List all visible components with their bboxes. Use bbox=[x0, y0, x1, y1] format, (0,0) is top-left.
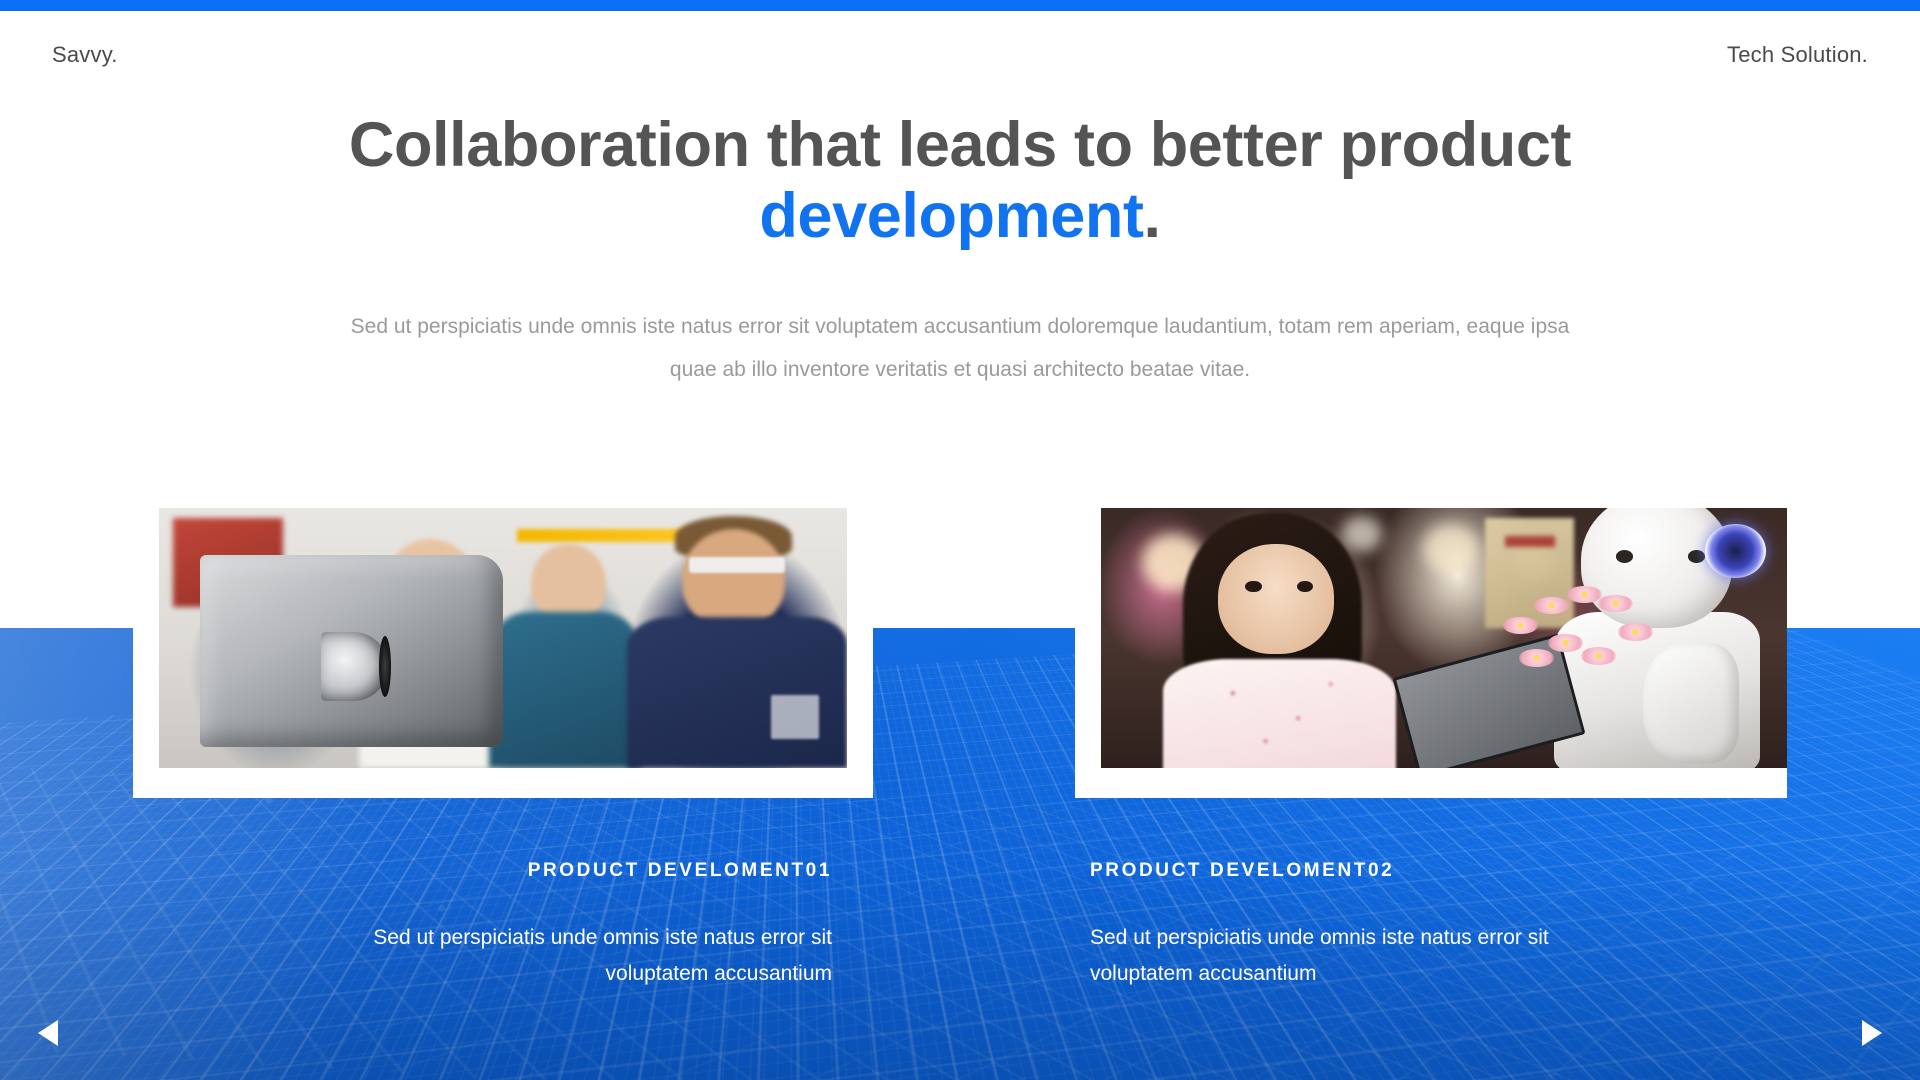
person-body-3 bbox=[627, 617, 847, 768]
person-face-2 bbox=[531, 544, 607, 622]
robot-eye-left bbox=[1616, 550, 1634, 563]
brand-right: Tech Solution. bbox=[1727, 42, 1868, 68]
uniform-crest bbox=[771, 695, 819, 739]
person-body-2 bbox=[489, 612, 640, 768]
product-card-2[interactable] bbox=[1075, 500, 1787, 798]
page-title-lead: Collaboration that leads to better produ… bbox=[349, 110, 1571, 180]
slide-header: Savvy. Tech Solution. bbox=[0, 11, 1920, 91]
person-face-3 bbox=[682, 529, 785, 628]
camera-rig-housing bbox=[200, 555, 503, 747]
product-image-2 bbox=[1101, 508, 1787, 768]
girl-face bbox=[1218, 544, 1335, 653]
safety-goggles bbox=[689, 557, 785, 573]
bokeh-light-5 bbox=[1341, 516, 1382, 552]
brand-left: Savvy. bbox=[52, 42, 118, 68]
page-title: Collaboration that leads to better produ… bbox=[330, 110, 1590, 251]
product-card-1[interactable] bbox=[133, 500, 873, 798]
flower bbox=[1503, 617, 1538, 634]
flower bbox=[1618, 623, 1653, 640]
product-title-2: PRODUCT DEVELOMENT02 bbox=[1090, 860, 1650, 882]
hero-block: Collaboration that leads to better produ… bbox=[0, 110, 1920, 391]
flower bbox=[1534, 597, 1569, 614]
slide-root: Savvy. Tech Solution. Collaboration that… bbox=[0, 0, 1920, 1080]
girl-and-robot-photo bbox=[1101, 508, 1787, 768]
product-caption-1: PRODUCT DEVELOMENT01 Sed ut perspiciatis… bbox=[272, 860, 832, 992]
camera-lens bbox=[321, 632, 388, 701]
flower bbox=[1548, 634, 1583, 651]
product-body-1: Sed ut perspiciatis unde omnis iste natu… bbox=[272, 920, 832, 992]
hero-subtitle: Sed ut perspiciatis unde omnis iste natu… bbox=[350, 305, 1570, 391]
girl-eye-left bbox=[1245, 581, 1261, 593]
robot-ear-light bbox=[1705, 524, 1767, 579]
flower bbox=[1581, 647, 1616, 664]
prev-slide-arrow-icon[interactable] bbox=[38, 1020, 58, 1046]
flower-garland bbox=[1499, 586, 1705, 695]
flower bbox=[1567, 586, 1602, 603]
flower bbox=[1519, 649, 1554, 666]
product-image-1 bbox=[159, 508, 847, 768]
product-body-2: Sed ut perspiciatis unde omnis iste natu… bbox=[1090, 920, 1650, 992]
product-caption-2: PRODUCT DEVELOMENT02 Sed ut perspiciatis… bbox=[1090, 860, 1650, 992]
flower bbox=[1598, 595, 1633, 612]
robot-eye-right bbox=[1688, 550, 1706, 563]
page-title-period: . bbox=[1144, 181, 1161, 251]
next-slide-arrow-icon[interactable] bbox=[1862, 1020, 1882, 1046]
bokeh-light-3 bbox=[1423, 524, 1478, 573]
page-title-accent: development bbox=[759, 181, 1143, 251]
product-title-1: PRODUCT DEVELOMENT01 bbox=[272, 860, 832, 882]
engineering-lab-photo bbox=[159, 508, 847, 768]
top-accent-bar bbox=[0, 0, 1920, 11]
girl-jacket bbox=[1163, 659, 1396, 768]
